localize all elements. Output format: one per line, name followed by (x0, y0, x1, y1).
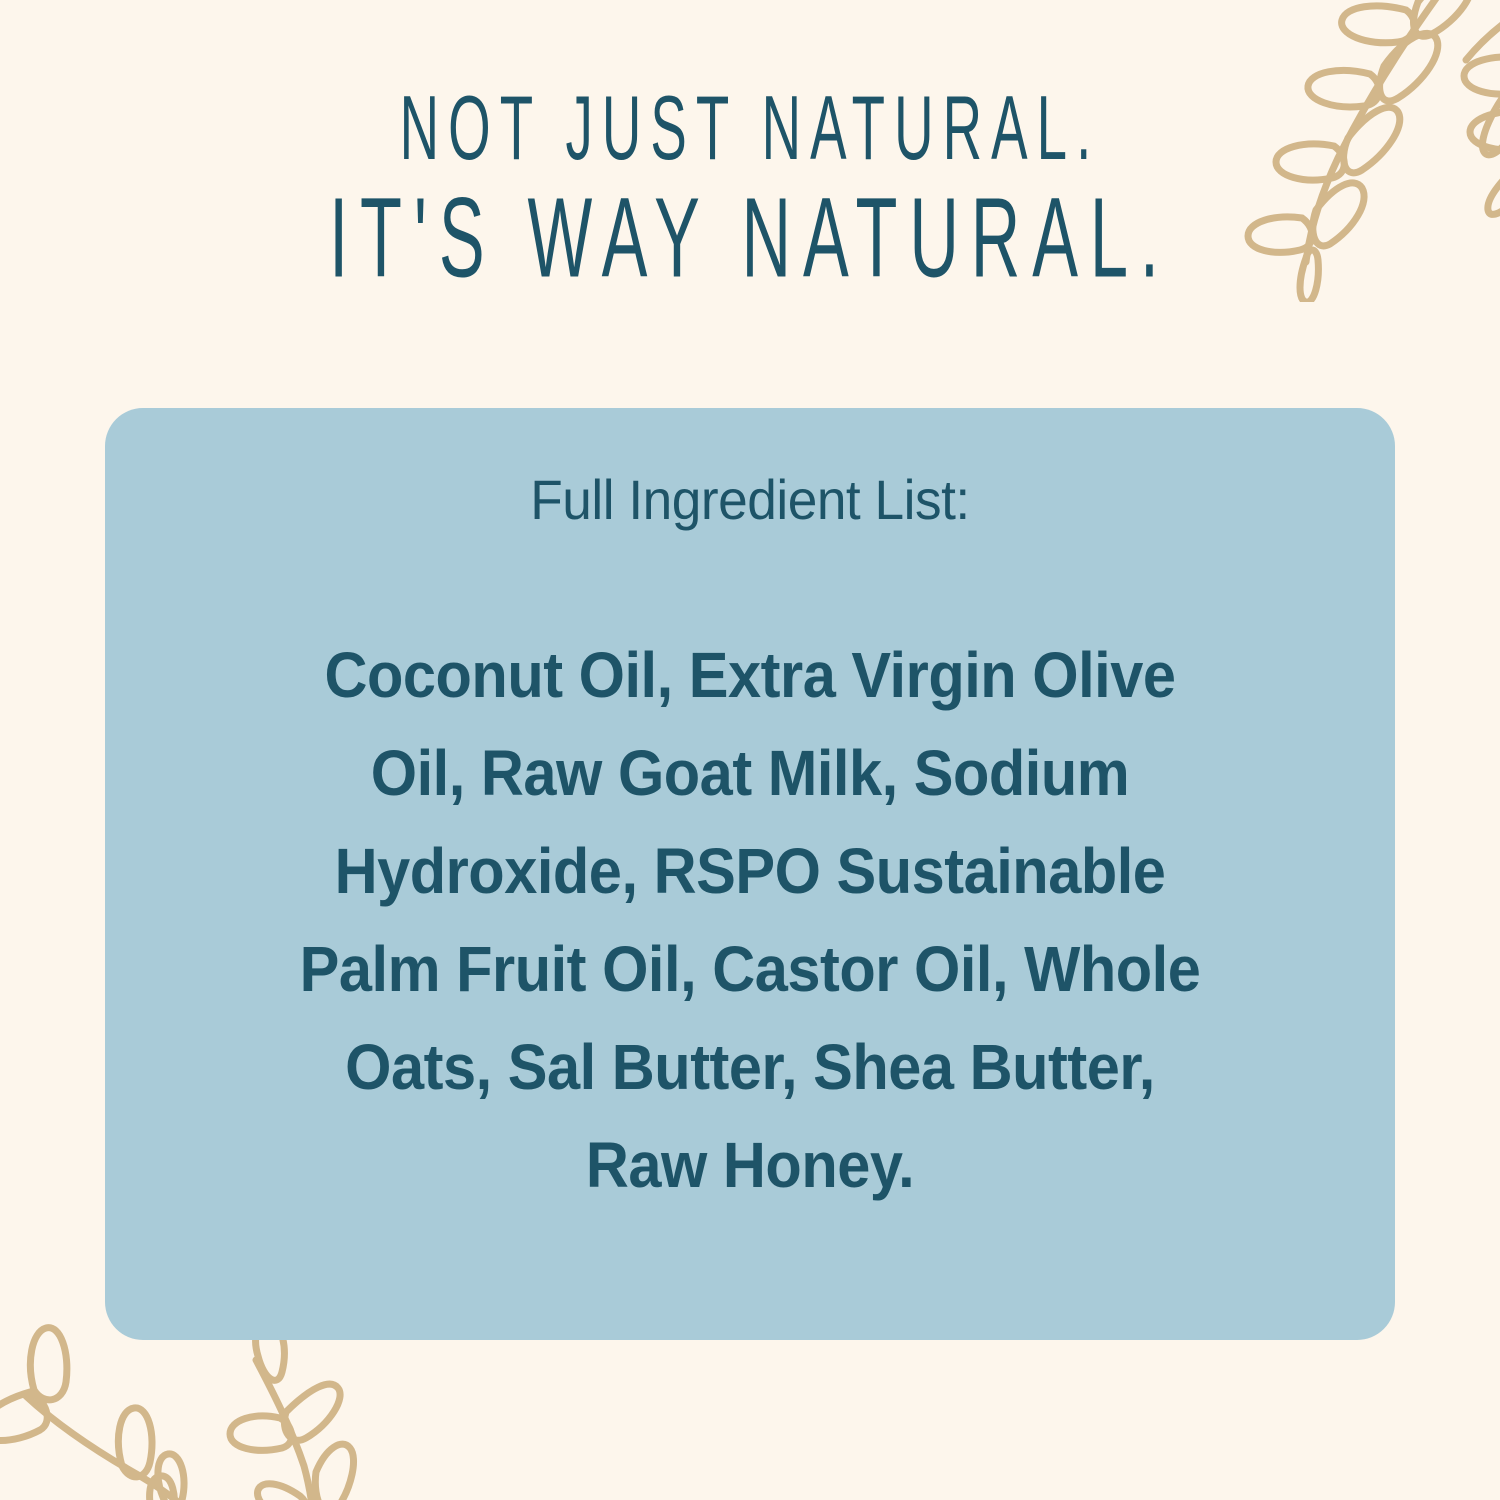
ingredient-card: Full Ingredient List: Coconut Oil, Extra… (105, 408, 1395, 1340)
headline-line-1: NOT JUST NATURAL. (225, 72, 1275, 183)
ingredient-line: Hydroxide, RSPO Sustainable (206, 822, 1294, 920)
headline: NOT JUST NATURAL. IT'S WAY NATURAL. (0, 72, 1500, 284)
ingredient-line: Oats, Sal Butter, Shea Butter, (206, 1018, 1294, 1116)
headline-line-2: IT'S WAY NATURAL. (225, 172, 1275, 302)
ingredient-line: Palm Fruit Oil, Castor Oil, Whole (206, 920, 1294, 1018)
ingredient-line: Oil, Raw Goat Milk, Sodium (206, 724, 1294, 822)
ingredient-line: Coconut Oil, Extra Virgin Olive (206, 626, 1294, 724)
ingredient-list-heading: Full Ingredient List: (194, 466, 1306, 534)
poster-canvas: NOT JUST NATURAL. IT'S WAY NATURAL. Full… (0, 0, 1500, 1500)
ingredient-list: Coconut Oil, Extra Virgin Olive Oil, Raw… (165, 626, 1335, 1214)
ingredient-line: Raw Honey. (206, 1116, 1294, 1214)
